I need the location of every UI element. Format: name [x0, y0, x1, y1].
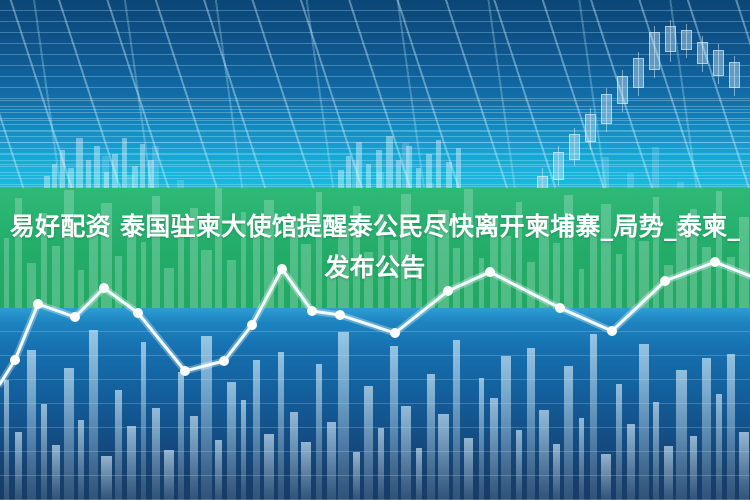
- promo-banner: 易好配资 泰国驻柬大使馆提醒泰公民尽快离开柬埔寨_局势_泰柬_发布公告: [0, 0, 750, 500]
- title-container: 易好配资 泰国驻柬大使馆提醒泰公民尽快离开柬埔寨_局势_泰柬_发布公告: [0, 206, 750, 288]
- line-chart-marker: [307, 306, 317, 316]
- line-chart-marker: [133, 308, 143, 318]
- line-chart-marker: [335, 310, 345, 320]
- line-chart-marker: [390, 328, 400, 338]
- line-chart-marker: [33, 299, 43, 309]
- line-chart-marker: [607, 326, 617, 336]
- line-chart-marker: [247, 320, 257, 330]
- page-title: 易好配资 泰国驻柬大使馆提醒泰公民尽快离开柬埔寨_局势_泰柬_发布公告: [8, 206, 742, 288]
- line-chart-marker: [70, 312, 80, 322]
- line-chart-marker: [180, 366, 190, 376]
- line-chart-marker: [10, 355, 20, 365]
- line-chart-marker: [555, 303, 565, 313]
- line-chart-marker: [219, 356, 229, 366]
